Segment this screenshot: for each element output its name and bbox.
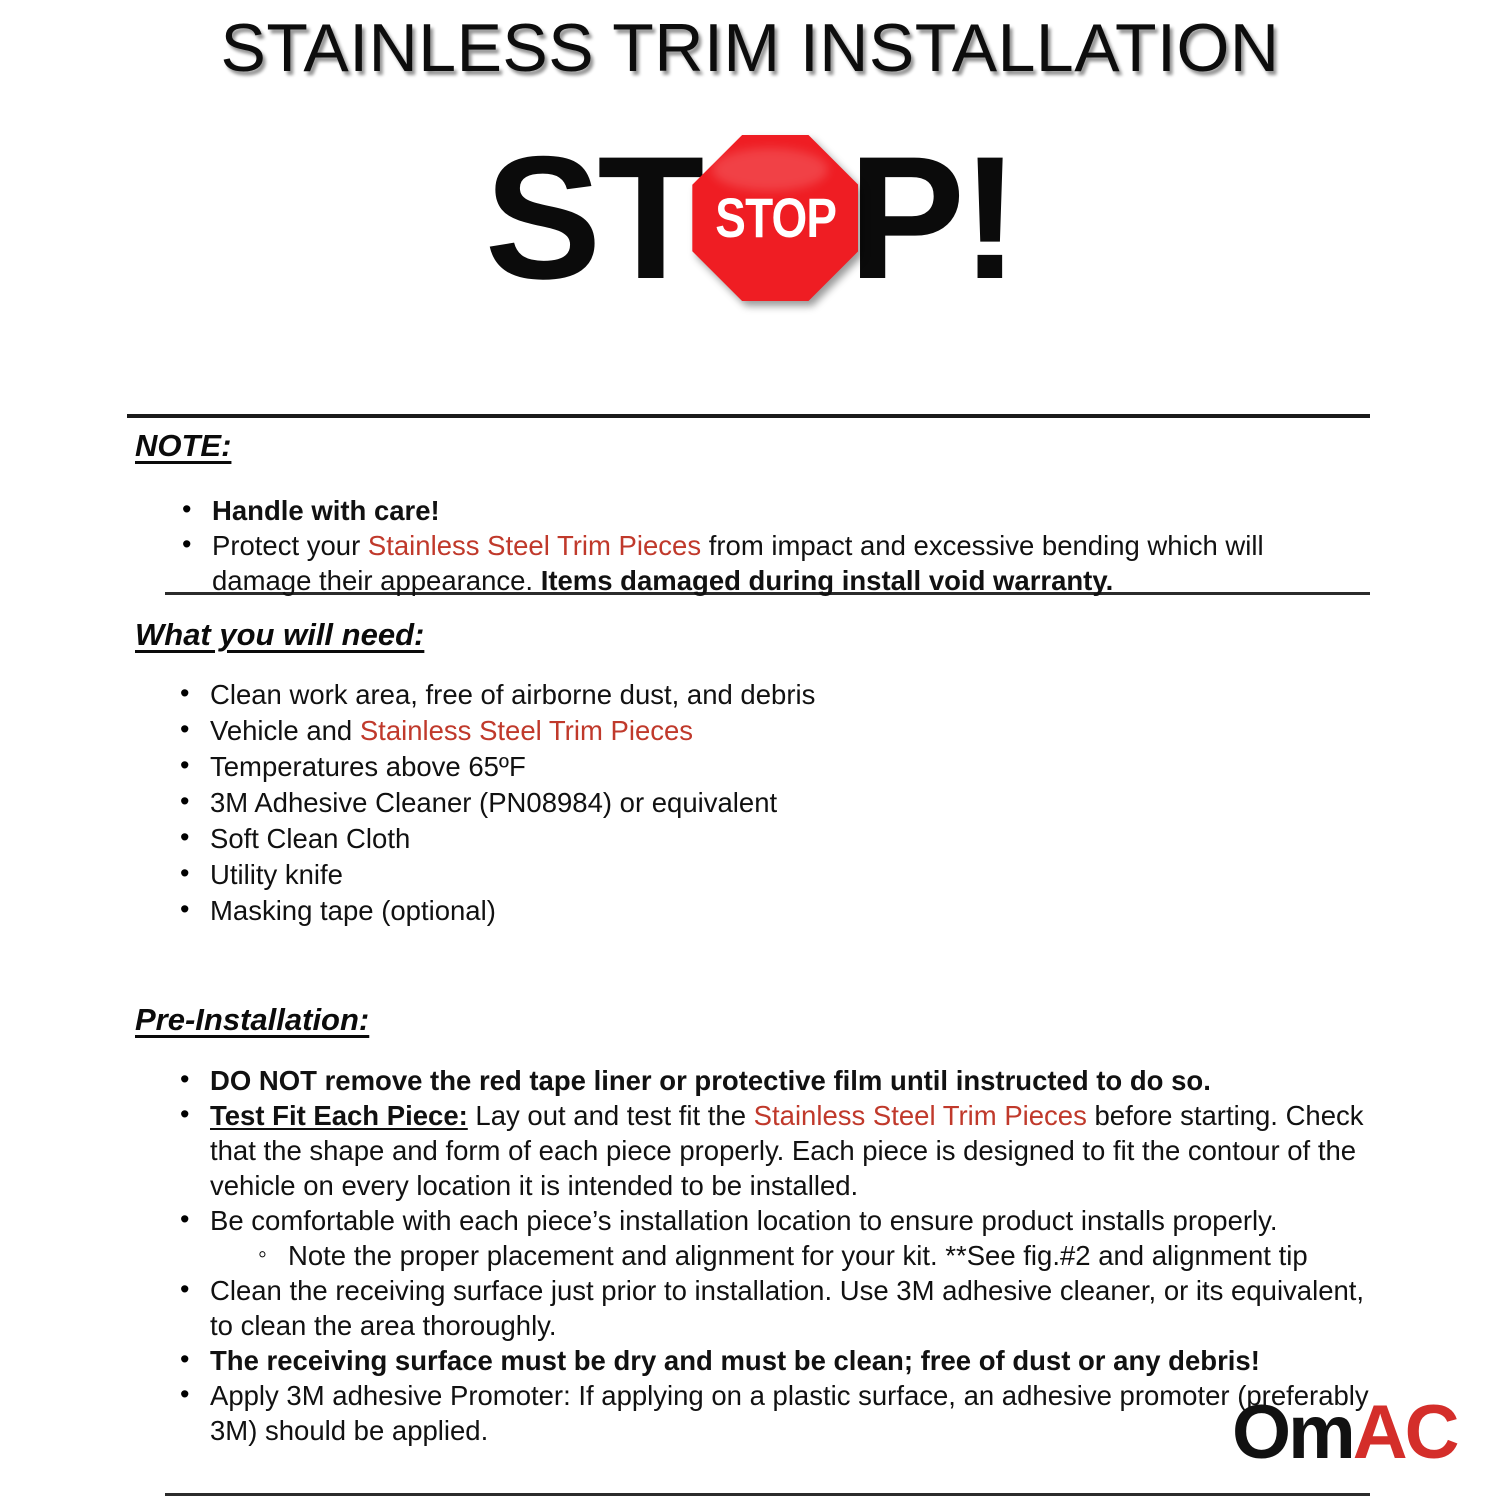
stop-logo-right-text: P!	[848, 138, 1015, 299]
needs-bullet-5: Utility knife	[210, 859, 343, 890]
note-bullet-0-text: Handle with care!	[212, 495, 440, 526]
list-item: Protect your Stainless Steel Trim Pieces…	[182, 528, 1272, 598]
preinstall-bullet-6: Apply 3M adhesive Promoter: If applying …	[210, 1380, 1369, 1446]
list-item: Utility knife	[180, 857, 1270, 892]
divider-top	[127, 414, 1370, 418]
list-item: Vehicle and Stainless Steel Trim Pieces	[180, 713, 1270, 748]
stop-sign-label: STOP	[715, 190, 836, 246]
needs-bullet-0: Clean work area, free of airborne dust, …	[210, 679, 815, 710]
needs-heading: What you will need:	[135, 617, 424, 653]
needs-bullet-1-part-0: Vehicle and	[210, 715, 360, 746]
divider-bottom	[165, 1493, 1370, 1496]
needs-bullet-4: Soft Clean Cloth	[210, 823, 410, 854]
list-item: The receiving surface must be dry and mu…	[180, 1343, 1370, 1378]
stop-logo: ST STOP P!	[0, 128, 1500, 308]
omac-logo-accent: AC	[1353, 1395, 1457, 1471]
needs-bullet-3: 3M Adhesive Cleaner (PN08984) or equival…	[210, 787, 777, 818]
list-item: Clean work area, free of airborne dust, …	[180, 677, 1270, 712]
omac-logo-dark: Om	[1232, 1395, 1353, 1471]
list-item: Handle with care!	[182, 493, 1272, 528]
preinstall-bullet-0: DO NOT remove the red tape liner or prot…	[210, 1065, 1211, 1096]
needs-bullet-6: Masking tape (optional)	[210, 895, 496, 926]
list-item: Test Fit Each Piece: Lay out and test fi…	[180, 1098, 1370, 1203]
note-bullet-list: Handle with care! Protect your Stainless…	[182, 493, 1272, 598]
needs-section: Clean work area, free of airborne dust, …	[180, 677, 1270, 929]
page-title: STAINLESS TRIM INSTALLATION	[0, 0, 1500, 82]
preinstall-heading: Pre-Installation:	[135, 1002, 369, 1038]
preinstall-bullet-3: Note the proper placement and alignment …	[288, 1240, 1308, 1271]
note-bullet-1-part-0: Protect your	[212, 530, 368, 561]
needs-bullet-2: Temperatures above 65ºF	[210, 751, 526, 782]
preinstall-bullet-1-lead: Test Fit Each Piece:	[210, 1100, 468, 1131]
note-section: Handle with care! Protect your Stainless…	[182, 493, 1272, 598]
list-item: Temperatures above 65ºF	[180, 749, 1270, 784]
preinstall-section: DO NOT remove the red tape liner or prot…	[180, 1063, 1370, 1448]
stop-logo-left-text: ST	[485, 138, 701, 299]
note-heading: NOTE:	[135, 428, 231, 464]
omac-logo: OmAC	[1232, 1395, 1456, 1471]
list-item: Soft Clean Cloth	[180, 821, 1270, 856]
list-item-sub: Note the proper placement and alignment …	[180, 1238, 1370, 1273]
stop-sign-icon: STOP	[692, 135, 858, 301]
preinstall-bullet-5: The receiving surface must be dry and mu…	[210, 1345, 1260, 1376]
preinstall-bullet-1-part-2: Stainless Steel Trim Pieces	[754, 1100, 1087, 1131]
list-item: Apply 3M adhesive Promoter: If applying …	[180, 1378, 1370, 1448]
list-item: Masking tape (optional)	[180, 893, 1270, 928]
preinstall-bullet-list: DO NOT remove the red tape liner or prot…	[180, 1063, 1370, 1448]
preinstall-bullet-4: Clean the receiving surface just prior t…	[210, 1275, 1364, 1341]
needs-bullet-list: Clean work area, free of airborne dust, …	[180, 677, 1270, 928]
list-item: Clean the receiving surface just prior t…	[180, 1273, 1370, 1343]
preinstall-bullet-1-part-1: Lay out and test fit the	[468, 1100, 754, 1131]
note-bullet-1-part-1: Stainless Steel Trim Pieces	[368, 530, 701, 561]
list-item: DO NOT remove the red tape liner or prot…	[180, 1063, 1370, 1098]
needs-bullet-1-part-1: Stainless Steel Trim Pieces	[360, 715, 693, 746]
note-bullet-1-part-3: Items damaged during install void warran…	[541, 565, 1114, 596]
preinstall-bullet-2: Be comfortable with each piece’s install…	[210, 1205, 1277, 1236]
list-item: Be comfortable with each piece’s install…	[180, 1203, 1370, 1238]
list-item: 3M Adhesive Cleaner (PN08984) or equival…	[180, 785, 1270, 820]
